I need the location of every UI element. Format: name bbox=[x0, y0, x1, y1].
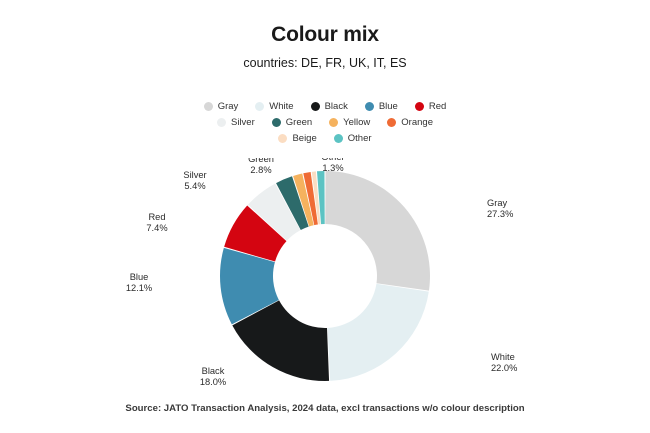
legend-item-label: Other bbox=[348, 133, 372, 144]
legend-item-green[interactable]: Green bbox=[272, 117, 312, 128]
colour-mix-chart-card: Colour mix countries: DE, FR, UK, IT, ES… bbox=[0, 0, 650, 433]
legend-swatch-icon bbox=[415, 102, 424, 111]
legend-item-beige[interactable]: Beige bbox=[278, 133, 316, 144]
legend-item-black[interactable]: Black bbox=[311, 101, 348, 112]
slice-label-other: Other1.3% bbox=[321, 158, 344, 173]
legend-item-blue[interactable]: Blue bbox=[365, 101, 398, 112]
legend-item-silver[interactable]: Silver bbox=[217, 117, 255, 128]
legend-item-label: Silver bbox=[231, 117, 255, 128]
chart-legend: Gray White Black Blue Red Silver bbox=[0, 101, 650, 144]
legend-item-label: Orange bbox=[401, 117, 433, 128]
legend-swatch-icon bbox=[278, 134, 287, 143]
legend-item-label: White bbox=[269, 101, 293, 112]
donut-chart-svg: Gray27.3%White22.0%Black18.0%Blue12.1%Re… bbox=[95, 158, 555, 394]
legend-item-yellow[interactable]: Yellow bbox=[329, 117, 370, 128]
slice-label-black: Black18.0% bbox=[200, 366, 226, 387]
chart-subtitle: countries: DE, FR, UK, IT, ES bbox=[0, 55, 650, 71]
donut-slice-white[interactable] bbox=[328, 284, 429, 381]
page-title: Colour mix bbox=[0, 22, 650, 48]
slice-label-white: White22.0% bbox=[491, 352, 517, 373]
slice-label-red: Red7.4% bbox=[146, 212, 167, 233]
legend-swatch-icon bbox=[204, 102, 213, 111]
chart-header: Colour mix countries: DE, FR, UK, IT, ES bbox=[0, 22, 650, 71]
legend-row-2: Silver Green Yellow Orange bbox=[217, 117, 433, 128]
legend-swatch-icon bbox=[255, 102, 264, 111]
legend-item-label: Green bbox=[286, 117, 312, 128]
legend-item-gray[interactable]: Gray bbox=[204, 101, 239, 112]
slice-label-blue: Blue12.1% bbox=[126, 272, 152, 293]
legend-swatch-icon bbox=[334, 134, 343, 143]
legend-swatch-icon bbox=[387, 118, 396, 127]
legend-swatch-icon bbox=[217, 118, 226, 127]
legend-swatch-icon bbox=[311, 102, 320, 111]
slice-label-silver: Silver5.4% bbox=[183, 170, 206, 191]
legend-item-label: Blue bbox=[379, 101, 398, 112]
donut-slice-gray[interactable] bbox=[325, 171, 430, 291]
source-note: Source: JATO Transaction Analysis, 2024 … bbox=[0, 403, 650, 415]
legend-item-label: Red bbox=[429, 101, 446, 112]
legend-item-label: Gray bbox=[218, 101, 239, 112]
legend-item-red[interactable]: Red bbox=[415, 101, 446, 112]
legend-swatch-icon bbox=[272, 118, 281, 127]
legend-item-label: Yellow bbox=[343, 117, 370, 128]
legend-item-orange[interactable]: Orange bbox=[387, 117, 433, 128]
legend-item-white[interactable]: White bbox=[255, 101, 293, 112]
legend-item-label: Black bbox=[325, 101, 348, 112]
slice-label-green: Green2.8% bbox=[248, 158, 274, 175]
donut-slice-group bbox=[220, 171, 430, 381]
legend-swatch-icon bbox=[329, 118, 338, 127]
donut-chart-area: Gray27.3%White22.0%Black18.0%Blue12.1%Re… bbox=[0, 158, 650, 394]
legend-row-1: Gray White Black Blue Red bbox=[204, 101, 447, 112]
slice-label-gray: Gray27.3% bbox=[487, 198, 513, 219]
legend-item-label: Beige bbox=[292, 133, 316, 144]
legend-item-other[interactable]: Other bbox=[334, 133, 372, 144]
legend-row-3: Beige Other bbox=[278, 133, 371, 144]
legend-swatch-icon bbox=[365, 102, 374, 111]
